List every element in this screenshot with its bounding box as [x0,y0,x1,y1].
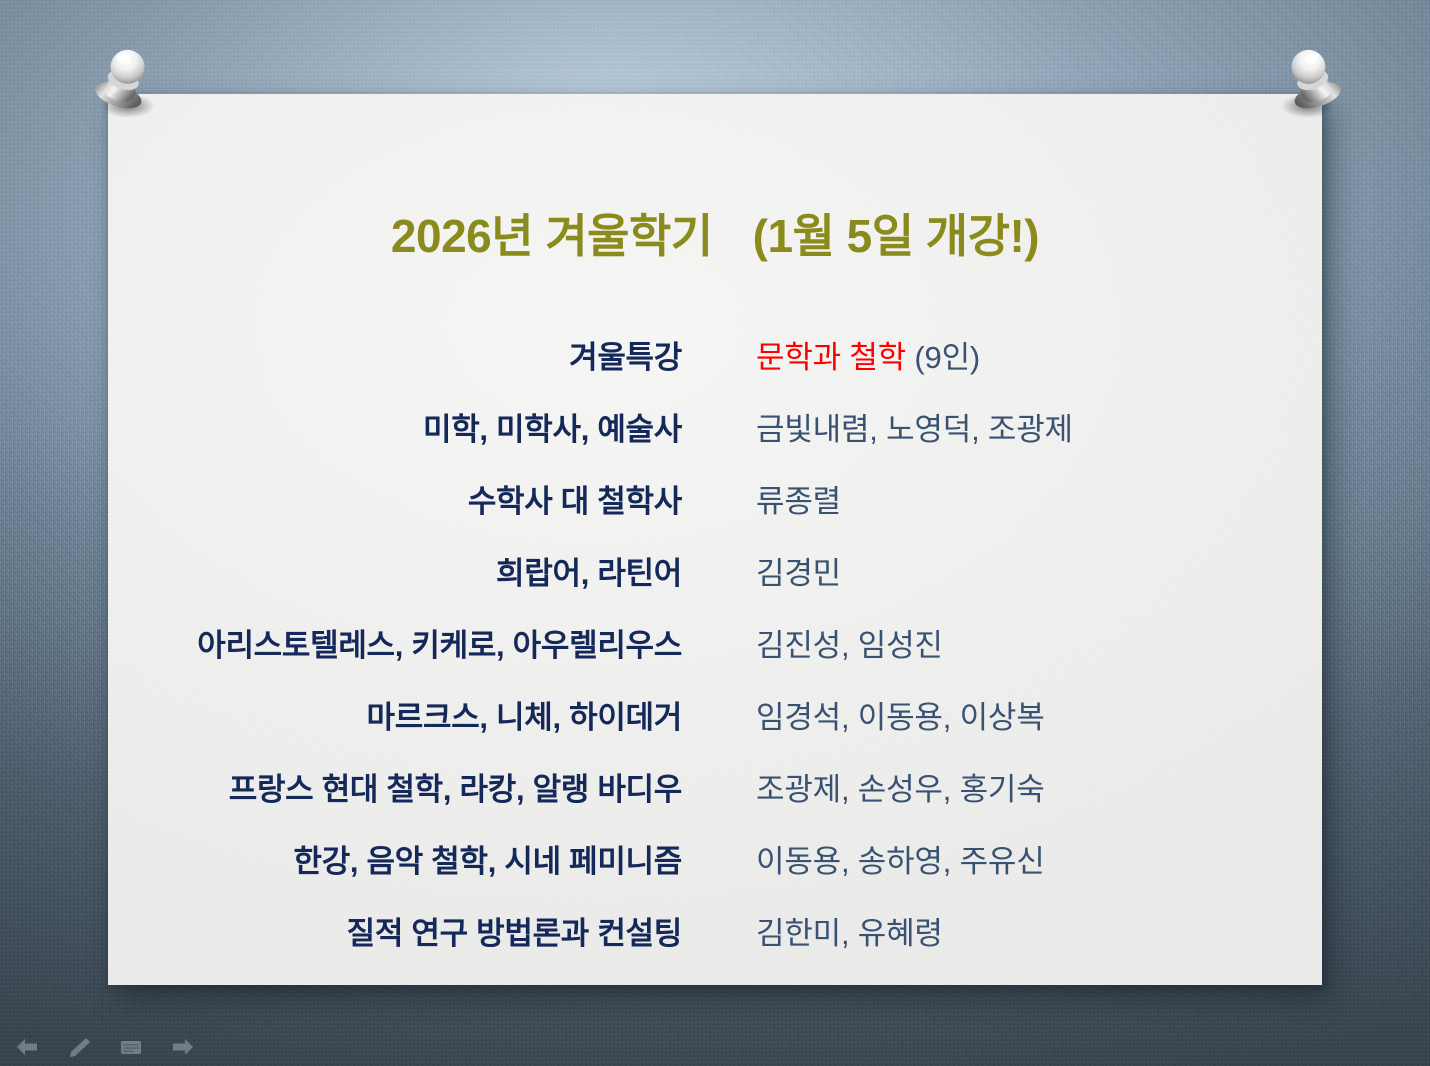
list-item: 수학사 대 철학사 류종렬 [108,476,1322,548]
course-instructors: 류종렬 [756,476,841,521]
presentation-slide: 2026년 겨울학기(1월 5일 개강!) 겨울특강 문학과 철학 (9인) 미… [0,0,1430,1066]
list-item: 질적 연구 방법론과 컨설팅 김한미, 유혜령 [108,908,1322,980]
previous-arrow-icon[interactable] [14,1036,40,1058]
course-instructors: 이동용, 송하영, 주유신 [756,836,1045,881]
title-sub: (1월 5일 개강!) [753,210,1039,262]
next-arrow-icon[interactable] [170,1036,196,1058]
pen-icon[interactable] [66,1036,92,1058]
list-item: 프랑스 현대 철학, 라캉, 알랭 바디우 조광제, 손성우, 홍기숙 [108,764,1322,836]
list-item: 아리스토텔레스, 키케로, 아우렐리우스 김진성, 임성진 [108,620,1322,692]
paper-sheet: 2026년 겨울학기(1월 5일 개강!) 겨울특강 문학과 철학 (9인) 미… [108,94,1322,985]
course-label: 질적 연구 방법론과 컨설팅 [347,908,682,953]
course-instructors: 김진성, 임성진 [756,620,943,665]
list-item: 한강, 음악 철학, 시네 페미니즘 이동용, 송하영, 주유신 [108,836,1322,908]
title-main: 2026년 겨울학기 [391,210,713,262]
course-highlight: 문학과 철학 [756,340,906,375]
page-title: 2026년 겨울학기(1월 5일 개강!) [108,200,1322,266]
list-item: 마르크스, 니체, 하이데거 임경석, 이동용, 이상복 [108,692,1322,764]
course-label: 수학사 대 철학사 [468,476,682,521]
course-instructors: 임경석, 이동용, 이상복 [756,692,1045,737]
course-count: (9인) [906,340,980,375]
course-label: 미학, 미학사, 예술사 [423,404,682,449]
course-list: 겨울특강 문학과 철학 (9인) 미학, 미학사, 예술사 금빛내렴, 노영덕,… [108,332,1322,980]
course-instructors: 금빛내렴, 노영덕, 조광제 [756,404,1073,449]
slideshow-toolbar[interactable] [14,1036,196,1058]
course-instructors: 문학과 철학 (9인) [756,332,980,377]
course-label: 겨울특강 [569,332,682,377]
slides-icon[interactable] [118,1036,144,1058]
list-item: 겨울특강 문학과 철학 (9인) [108,332,1322,404]
course-instructors: 조광제, 손성우, 홍기숙 [756,764,1045,809]
course-instructors: 김경민 [756,548,841,593]
course-label: 마르크스, 니체, 하이데거 [367,692,682,737]
course-label: 아리스토텔레스, 키케로, 아우렐리우스 [197,620,682,665]
course-label: 프랑스 현대 철학, 라캉, 알랭 바디우 [229,764,682,809]
list-item: 미학, 미학사, 예술사 금빛내렴, 노영덕, 조광제 [108,404,1322,476]
list-item: 희랍어, 라틴어 김경민 [108,548,1322,620]
course-label: 희랍어, 라틴어 [496,548,682,593]
course-instructors: 김한미, 유혜령 [756,908,943,953]
course-label: 한강, 음악 철학, 시네 페미니즘 [293,836,682,881]
